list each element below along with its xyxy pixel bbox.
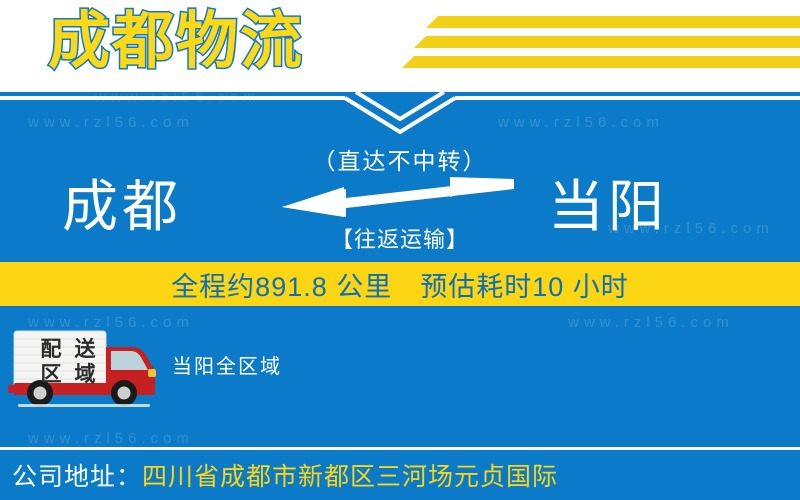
route-metrics-text: 全程约891.8 公里 预估耗时10 小时: [171, 265, 629, 304]
truck-box-char: 域: [68, 362, 102, 387]
watermark: www.rzl56.com: [28, 114, 194, 131]
truck-box-char: 送: [68, 337, 102, 362]
bidirectional-arrow-icon: [282, 177, 514, 219]
header-band: 成都物流: [0, 0, 800, 92]
main-panel: www.rzl56.com www.rzl56.com www.rzl56.co…: [0, 92, 800, 500]
address-label: 公司地址：: [12, 457, 142, 493]
direct-shipping-note: （直达不中转）: [0, 142, 800, 176]
watermark: www.rzl56.com: [95, 92, 261, 106]
metrics-band: 全程约891.8 公里 预估耗时10 小时: [0, 262, 800, 306]
page-title: 成都物流: [48, 4, 304, 80]
watermark: www.rzl56.com: [498, 114, 664, 131]
truck-box-label: 配 送 区 域: [34, 337, 102, 387]
decorative-stripes: [400, 14, 800, 76]
truck-box-char: 配: [34, 337, 68, 362]
logistics-banner: 成都物流 www.rzl56.com www.rzl56.com www.rzl…: [0, 0, 800, 500]
watermark: www.rzl56.com: [28, 430, 194, 447]
watermark: www.rzl56.com: [568, 314, 734, 331]
delivery-truck-icon: 配 送 区 域: [8, 325, 160, 409]
truck-box-char: 区: [34, 362, 68, 387]
address-bar: 公司地址： 四川省成都市新都区三河场元贞国际: [0, 450, 800, 500]
address-value: 四川省成都市新都区三河场元贞国际: [142, 457, 558, 493]
delivery-coverage-text: 当阳全区域: [172, 350, 282, 379]
roundtrip-note: 【往返运输】: [0, 222, 800, 254]
